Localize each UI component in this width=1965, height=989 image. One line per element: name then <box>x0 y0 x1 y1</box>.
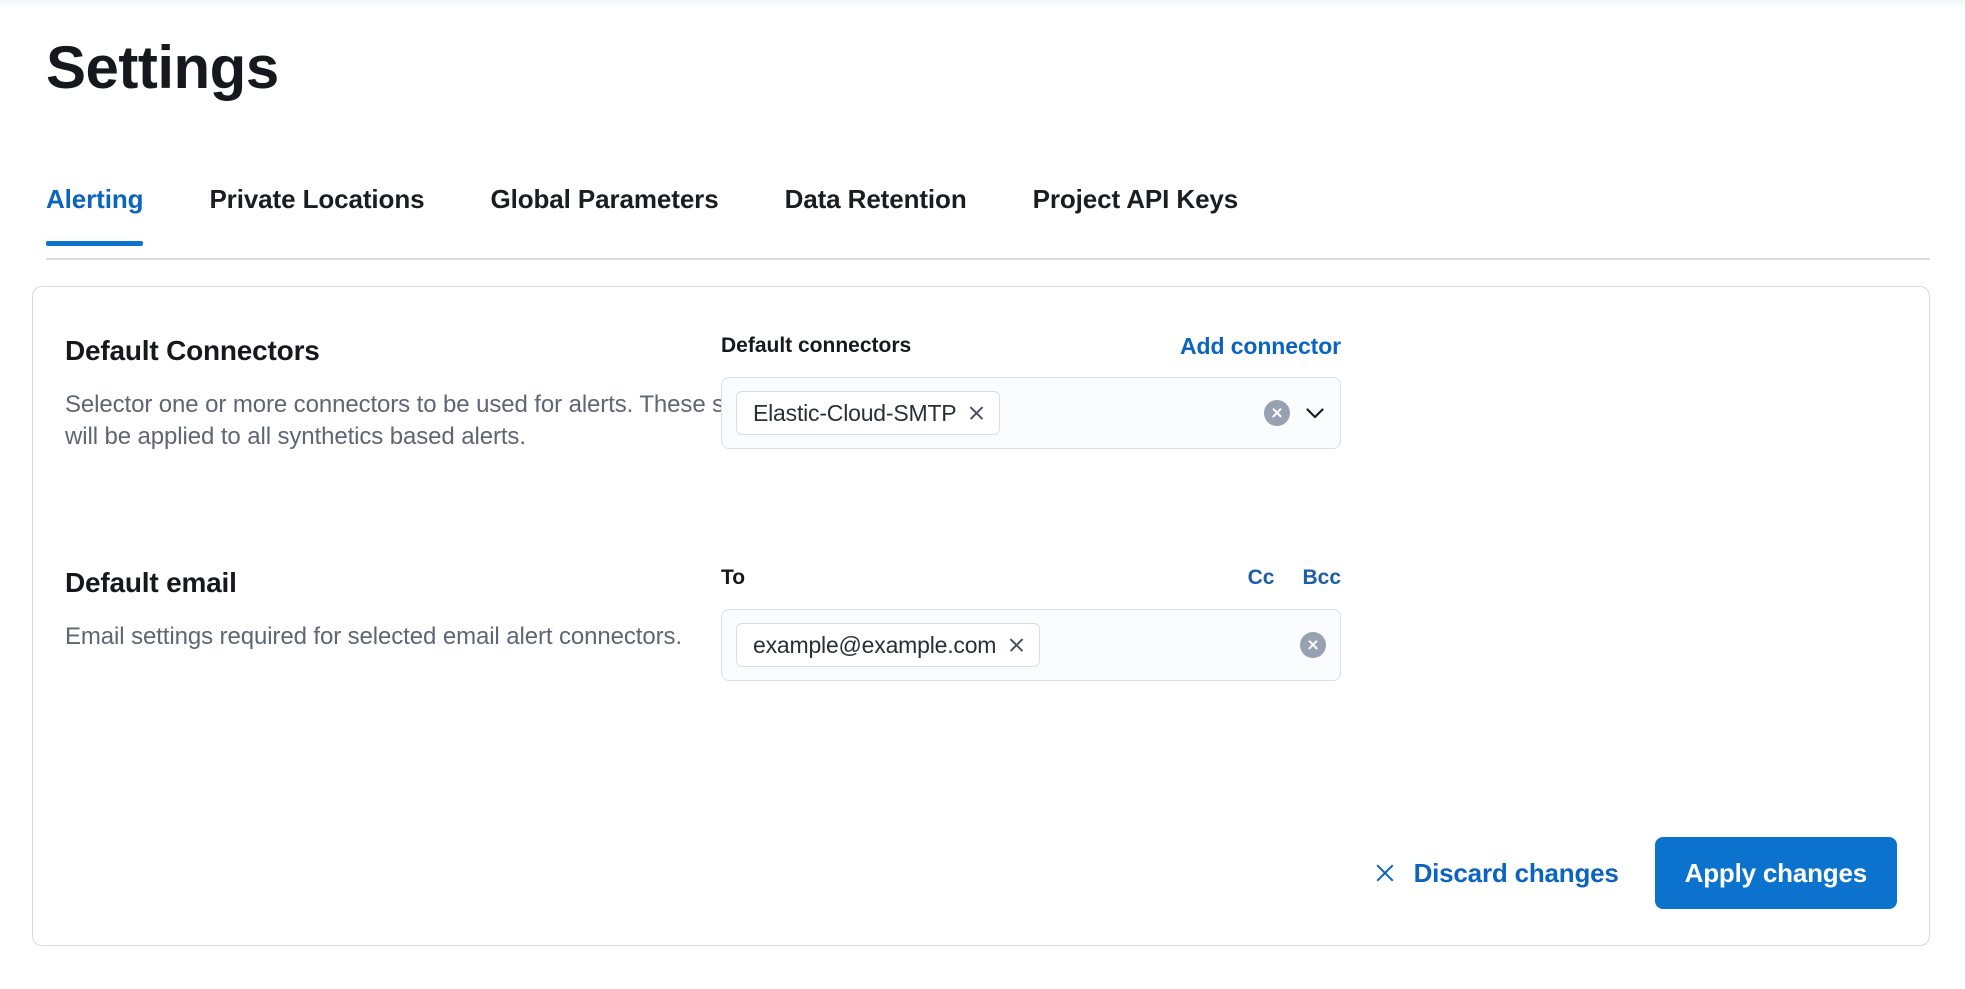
connector-pill-label: Elastic-Cloud-SMTP <box>753 400 956 427</box>
recipient-pill[interactable]: example@example.com <box>736 623 1040 667</box>
chevron-down-icon[interactable] <box>1304 402 1326 424</box>
combobox-actions <box>1264 400 1326 426</box>
apply-changes-button[interactable]: Apply changes <box>1655 837 1897 909</box>
to-label: To <box>721 566 745 590</box>
tab-alerting-label: Alerting <box>46 184 143 214</box>
tab-project-api-keys-label: Project API Keys <box>1033 184 1239 214</box>
to-combobox-actions <box>1300 632 1326 658</box>
to-recipients-combobox[interactable]: example@example.com <box>721 609 1341 681</box>
tab-global-parameters-label: Global Parameters <box>490 184 718 214</box>
tab-project-api-keys[interactable]: Project API Keys <box>1033 184 1239 244</box>
default-email-title: Default email <box>65 567 805 599</box>
alerting-settings-card: Default Connectors Selector one or more … <box>32 286 1930 946</box>
tab-private-locations-label: Private Locations <box>209 184 424 214</box>
tab-private-locations[interactable]: Private Locations <box>209 184 424 244</box>
remove-recipient-icon[interactable] <box>1008 637 1025 654</box>
remove-connector-icon[interactable] <box>968 405 985 422</box>
default-connectors-description: Selector one or more connectors to be us… <box>65 389 805 453</box>
default-email-field-header: To Cc Bcc <box>721 563 1341 593</box>
bcc-link[interactable]: Bcc <box>1302 566 1341 590</box>
tab-data-retention[interactable]: Data Retention <box>785 184 967 244</box>
connector-pill[interactable]: Elastic-Cloud-SMTP <box>736 391 1000 435</box>
card-footer-actions: Discard changes Apply changes <box>1368 837 1897 909</box>
default-connectors-combobox[interactable]: Elastic-Cloud-SMTP <box>721 377 1341 449</box>
default-email-field-column: To Cc Bcc example@example.com <box>721 563 1341 681</box>
default-email-description: Email settings required for selected ema… <box>65 621 805 653</box>
discard-changes-button[interactable]: Discard changes <box>1368 850 1625 897</box>
tab-alerting[interactable]: Alerting <box>46 184 143 244</box>
default-connectors-field-header: Default connectors Add connector <box>721 331 1341 361</box>
settings-tabs: Alerting Private Locations Global Parame… <box>46 184 1930 260</box>
settings-page: Settings Alerting Private Locations Glob… <box>0 0 1965 989</box>
default-connectors-title: Default Connectors <box>65 335 805 367</box>
cc-bcc-links: Cc Bcc <box>1248 566 1341 590</box>
close-icon <box>1374 862 1396 884</box>
default-connectors-description-column: Default Connectors Selector one or more … <box>65 335 805 453</box>
clear-recipients-icon[interactable] <box>1300 632 1326 658</box>
add-connector-link[interactable]: Add connector <box>1180 333 1341 360</box>
page-title: Settings <box>46 38 279 98</box>
cc-link[interactable]: Cc <box>1248 566 1275 590</box>
default-connectors-field-column: Default connectors Add connector Elastic… <box>721 331 1341 449</box>
tab-global-parameters[interactable]: Global Parameters <box>490 184 718 244</box>
default-email-description-column: Default email Email settings required fo… <box>65 567 805 653</box>
clear-connectors-icon[interactable] <box>1264 400 1290 426</box>
discard-changes-label: Discard changes <box>1414 858 1619 889</box>
tab-data-retention-label: Data Retention <box>785 184 967 214</box>
recipient-pill-label: example@example.com <box>753 632 996 659</box>
default-connectors-label: Default connectors <box>721 334 911 358</box>
